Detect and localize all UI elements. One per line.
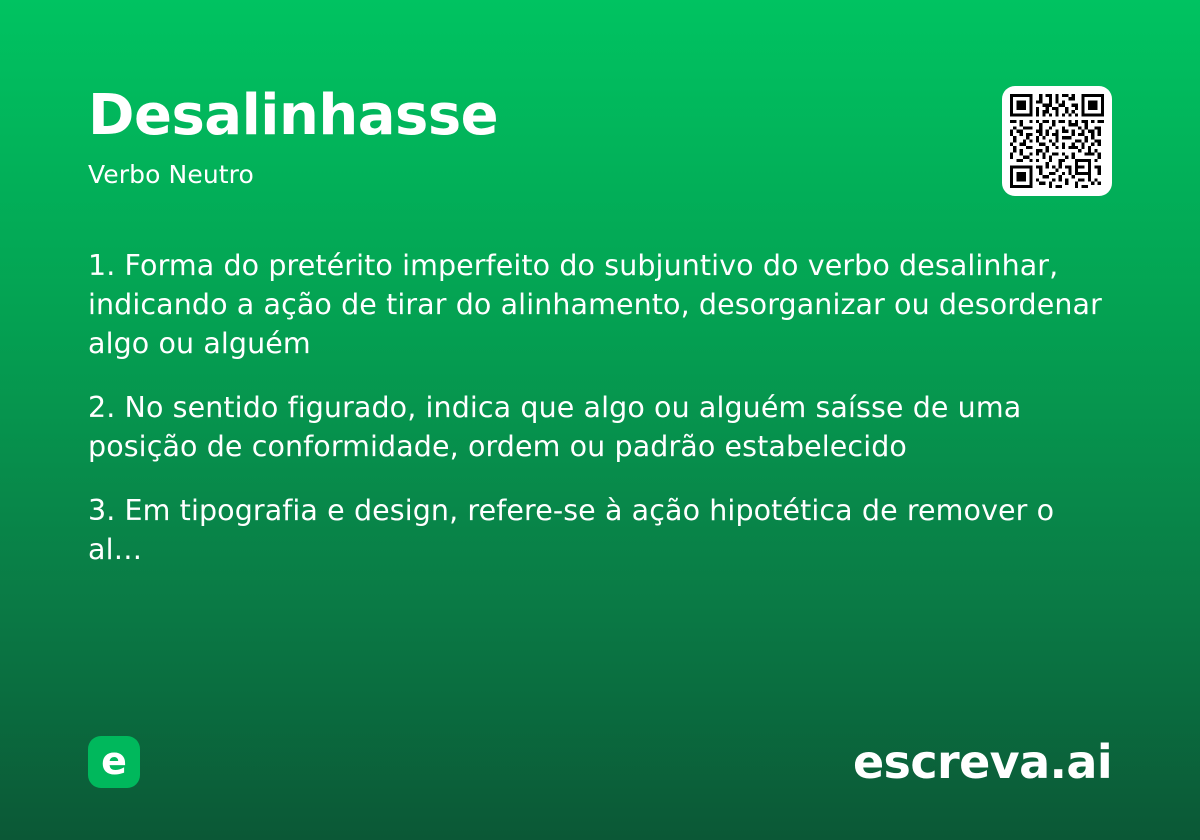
word-class-subtitle: Verbo Neutro bbox=[88, 162, 498, 187]
logo-letter: e bbox=[101, 742, 127, 780]
escreva-logo-icon: e bbox=[88, 736, 140, 788]
definition-list: 1. Forma do pretérito imperfeito do subj… bbox=[88, 246, 1112, 569]
definition-item-3: 3. Em tipografia e design, refere-se à a… bbox=[88, 491, 1112, 569]
card-header: Desalinhasse Verbo Neutro bbox=[88, 86, 1112, 196]
definition-item-2: 2. No sentido figurado, indica que algo … bbox=[88, 388, 1112, 466]
card-footer: e escreva.ai bbox=[88, 736, 1112, 788]
qr-code-icon[interactable] bbox=[1002, 86, 1112, 196]
page-title: Desalinhasse bbox=[88, 88, 498, 144]
word-definition-card: Desalinhasse Verbo Neutro bbox=[0, 0, 1200, 840]
brand-wordmark: escreva.ai bbox=[853, 739, 1112, 785]
title-block: Desalinhasse Verbo Neutro bbox=[88, 86, 498, 187]
definition-item-1: 1. Forma do pretérito imperfeito do subj… bbox=[88, 246, 1112, 363]
